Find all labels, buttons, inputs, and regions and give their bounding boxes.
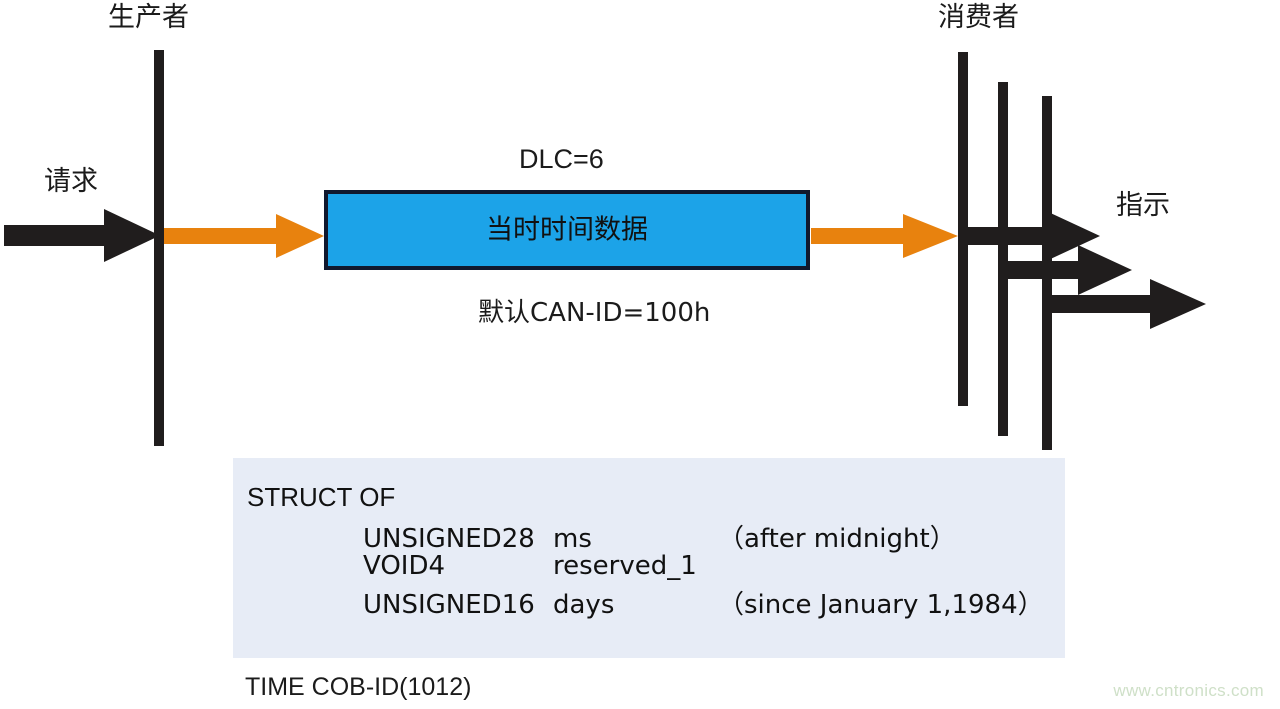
struct-row: UNSIGNED16days（since January 1,1984） xyxy=(363,584,1044,621)
struct-header: STRUCT OF xyxy=(247,482,395,513)
producer-title: 生产者 xyxy=(108,4,189,31)
diagram-canvas: 生产者 消费者 请求 指示 DLC=6 默认CAN-ID=100h 当时时间数据… xyxy=(0,0,1280,709)
struct-field-note: （after midnight） xyxy=(718,518,956,555)
cob-id-caption: TIME COB-ID(1012) xyxy=(245,675,471,700)
consumer-lifeline-2 xyxy=(998,82,1008,436)
can-id-label: 默认CAN-ID=100h xyxy=(478,300,710,326)
struct-field-name: ms xyxy=(553,524,718,554)
message-arrow-right xyxy=(811,214,958,258)
struct-row: UNSIGNED28ms（after midnight） xyxy=(363,518,956,555)
indication-label: 指示 xyxy=(1116,192,1170,219)
struct-definition-panel: STRUCT OF UNSIGNED28ms（after midnight） V… xyxy=(233,458,1065,658)
producer-lifeline xyxy=(154,50,164,446)
request-label: 请求 xyxy=(44,168,98,195)
request-arrow xyxy=(4,209,160,262)
struct-field-note: （since January 1,1984） xyxy=(718,584,1044,621)
struct-field-type: UNSIGNED28 xyxy=(363,524,553,554)
dlc-label: DLC=6 xyxy=(519,146,604,173)
struct-row: VOID4reserved_1 xyxy=(363,551,718,581)
struct-field-type: VOID4 xyxy=(363,551,553,581)
struct-field-type: UNSIGNED16 xyxy=(363,590,553,620)
time-data-frame: 当时时间数据 xyxy=(324,190,810,270)
consumer-title: 消费者 xyxy=(938,4,1019,31)
message-arrow-left xyxy=(164,214,324,258)
indication-arrow-2 xyxy=(998,245,1132,295)
struct-field-name: days xyxy=(553,590,718,620)
indication-arrow-3 xyxy=(1042,279,1206,329)
time-data-frame-label: 当时时间数据 xyxy=(328,217,806,244)
struct-field-name: reserved_1 xyxy=(553,551,718,581)
site-watermark: www.cntronics.com xyxy=(1113,681,1264,701)
